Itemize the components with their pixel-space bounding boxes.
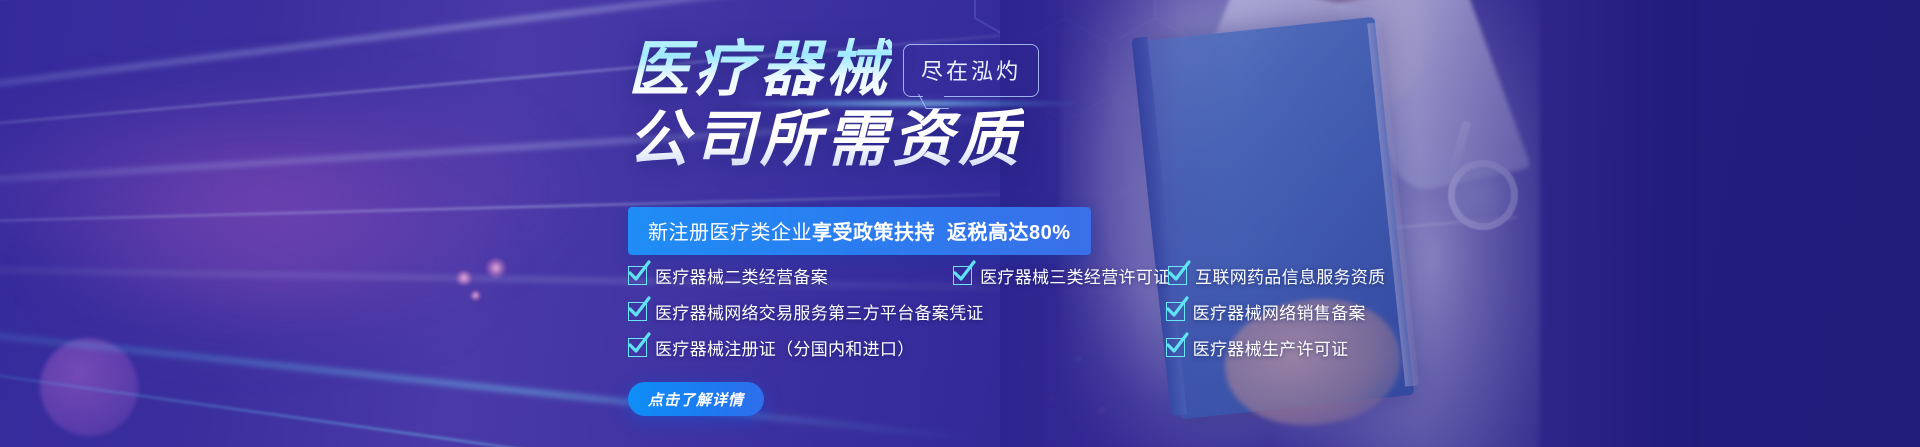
headline-glow	[738, 100, 1078, 107]
headline-line-2: 公司所需资质	[628, 108, 1024, 170]
checkbox-checked-icon	[628, 302, 647, 321]
checklist-row: 医疗器械注册证（分国内和进口） 医疗器械生产许可证	[628, 335, 1388, 360]
list-item[interactable]: 医疗器械三类经营许可证	[953, 263, 1133, 288]
promo-suffix-text: 返税高达80%	[947, 222, 1071, 244]
promo-bold-text: 享受政策扶持	[812, 222, 935, 244]
list-item[interactable]: 医疗器械生产许可证	[1166, 335, 1388, 360]
list-item[interactable]: 医疗器械网络交易服务第三方平台备案凭证	[628, 299, 1131, 324]
checkbox-checked-icon	[628, 338, 647, 357]
checkbox-checked-icon	[1166, 338, 1185, 357]
promo-bar: 新注册医疗类企业享受政策扶持返税高达80%	[628, 207, 1091, 255]
bokeh-dot	[486, 258, 506, 278]
checklist-row: 医疗器械网络交易服务第三方平台备案凭证 医疗器械网络销售备案	[628, 299, 1388, 324]
list-item-label: 医疗器械网络交易服务第三方平台备案凭证	[655, 299, 984, 324]
bokeh-dot	[470, 290, 481, 301]
checkbox-checked-icon	[628, 266, 647, 285]
promo-normal-text: 新注册医疗类企业	[648, 222, 812, 244]
checklist-row: 医疗器械二类经营备案 医疗器械三类经营许可证 互联网药品信息服务资质	[628, 263, 1388, 288]
qualification-checklist: 医疗器械二类经营备案 医疗器械三类经营许可证 互联网药品信息服务资质	[628, 263, 1388, 371]
list-item-label: 医疗器械注册证（分国内和进口）	[655, 335, 915, 360]
list-item-label: 医疗器械生产许可证	[1193, 335, 1349, 360]
list-item-label: 医疗器械三类经营许可证	[980, 263, 1170, 288]
checkbox-checked-icon	[1166, 302, 1185, 321]
tagline-bubble-label: 尽在泓灼	[921, 59, 1021, 84]
list-item-label: 医疗器械网络销售备案	[1193, 299, 1366, 324]
list-item[interactable]: 互联网药品信息服务资质	[1168, 263, 1388, 288]
checkbox-checked-icon	[953, 266, 972, 285]
list-item[interactable]: 医疗器械网络销售备案	[1166, 299, 1388, 324]
medical-device-qualification-banner: 医疗器械 公司所需资质 尽在泓灼 新注册医疗类企业享受政策扶持返税高达80% 医…	[0, 0, 1920, 447]
list-item[interactable]: 医疗器械注册证（分国内和进口）	[628, 335, 1131, 360]
list-item-label: 医疗器械二类经营备案	[655, 263, 828, 288]
tagline-bubble: 尽在泓灼	[903, 44, 1039, 97]
bokeh-dot	[456, 270, 472, 286]
banner-content: 医疗器械 公司所需资质 尽在泓灼 新注册医疗类企业享受政策扶持返税高达80% 医…	[628, 0, 1388, 447]
headline-line-1: 医疗器械	[628, 38, 892, 100]
checkbox-checked-icon	[1168, 266, 1187, 285]
list-item-label: 互联网药品信息服务资质	[1195, 263, 1385, 288]
learn-more-button[interactable]: 点击了解详情	[628, 382, 764, 416]
list-item[interactable]: 医疗器械二类经营备案	[628, 263, 953, 288]
